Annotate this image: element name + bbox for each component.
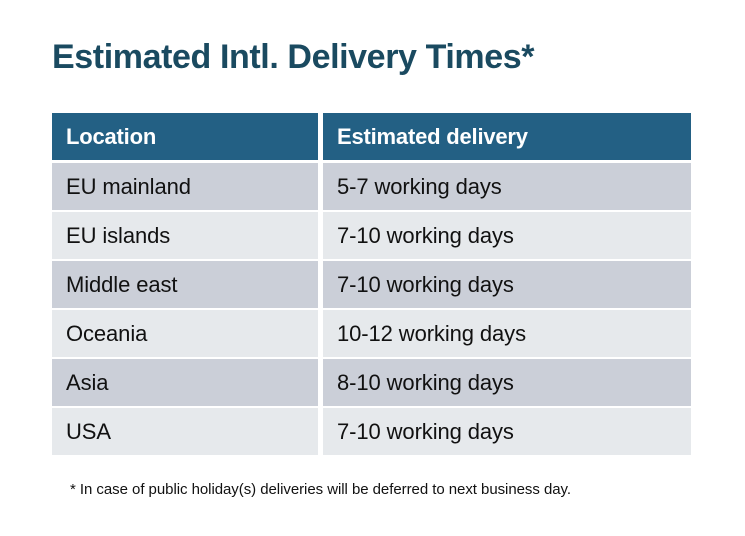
- cell-estimated-delivery: 10-12 working days: [323, 310, 691, 357]
- cell-estimated-delivery: 7-10 working days: [323, 212, 691, 259]
- cell-estimated-delivery: 7-10 working days: [323, 261, 691, 308]
- cell-location: Middle east: [52, 261, 318, 308]
- table-row: USA 7-10 working days: [52, 408, 691, 455]
- cell-location: EU islands: [52, 212, 318, 259]
- page-title: Estimated Intl. Delivery Times*: [52, 36, 534, 78]
- cell-location: Asia: [52, 359, 318, 406]
- cell-location: EU mainland: [52, 163, 318, 210]
- delivery-times-table: Location Estimated delivery EU mainland …: [52, 113, 691, 457]
- column-header-location: Location: [52, 113, 318, 160]
- table-row: EU mainland 5-7 working days: [52, 163, 691, 210]
- footnote: * In case of public holiday(s) deliverie…: [70, 481, 571, 498]
- cell-estimated-delivery: 7-10 working days: [323, 408, 691, 455]
- cell-location: USA: [52, 408, 318, 455]
- cell-estimated-delivery: 5-7 working days: [323, 163, 691, 210]
- cell-location: Oceania: [52, 310, 318, 357]
- table-row: Middle east 7-10 working days: [52, 261, 691, 308]
- table-row: Asia 8-10 working days: [52, 359, 691, 406]
- delivery-times-page: Estimated Intl. Delivery Times* Location…: [0, 0, 745, 536]
- cell-estimated-delivery: 8-10 working days: [323, 359, 691, 406]
- table-row: Oceania 10-12 working days: [52, 310, 691, 357]
- table-row: EU islands 7-10 working days: [52, 212, 691, 259]
- table-header-row: Location Estimated delivery: [52, 113, 691, 160]
- column-header-estimated-delivery: Estimated delivery: [323, 113, 691, 160]
